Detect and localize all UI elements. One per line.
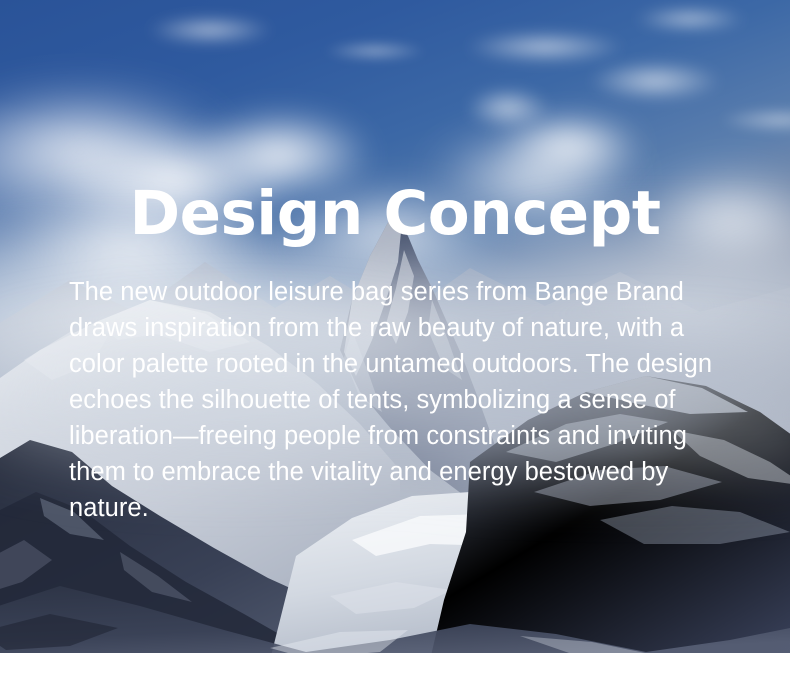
mountain-background-photo: Design Concept The new outdoor leisure b… <box>0 0 790 653</box>
page-title: Design Concept <box>0 183 790 244</box>
footer-white-strip <box>0 653 790 679</box>
design-concept-section: Design Concept The new outdoor leisure b… <box>0 0 790 679</box>
description-paragraph: The new outdoor leisure bag series from … <box>69 274 731 526</box>
